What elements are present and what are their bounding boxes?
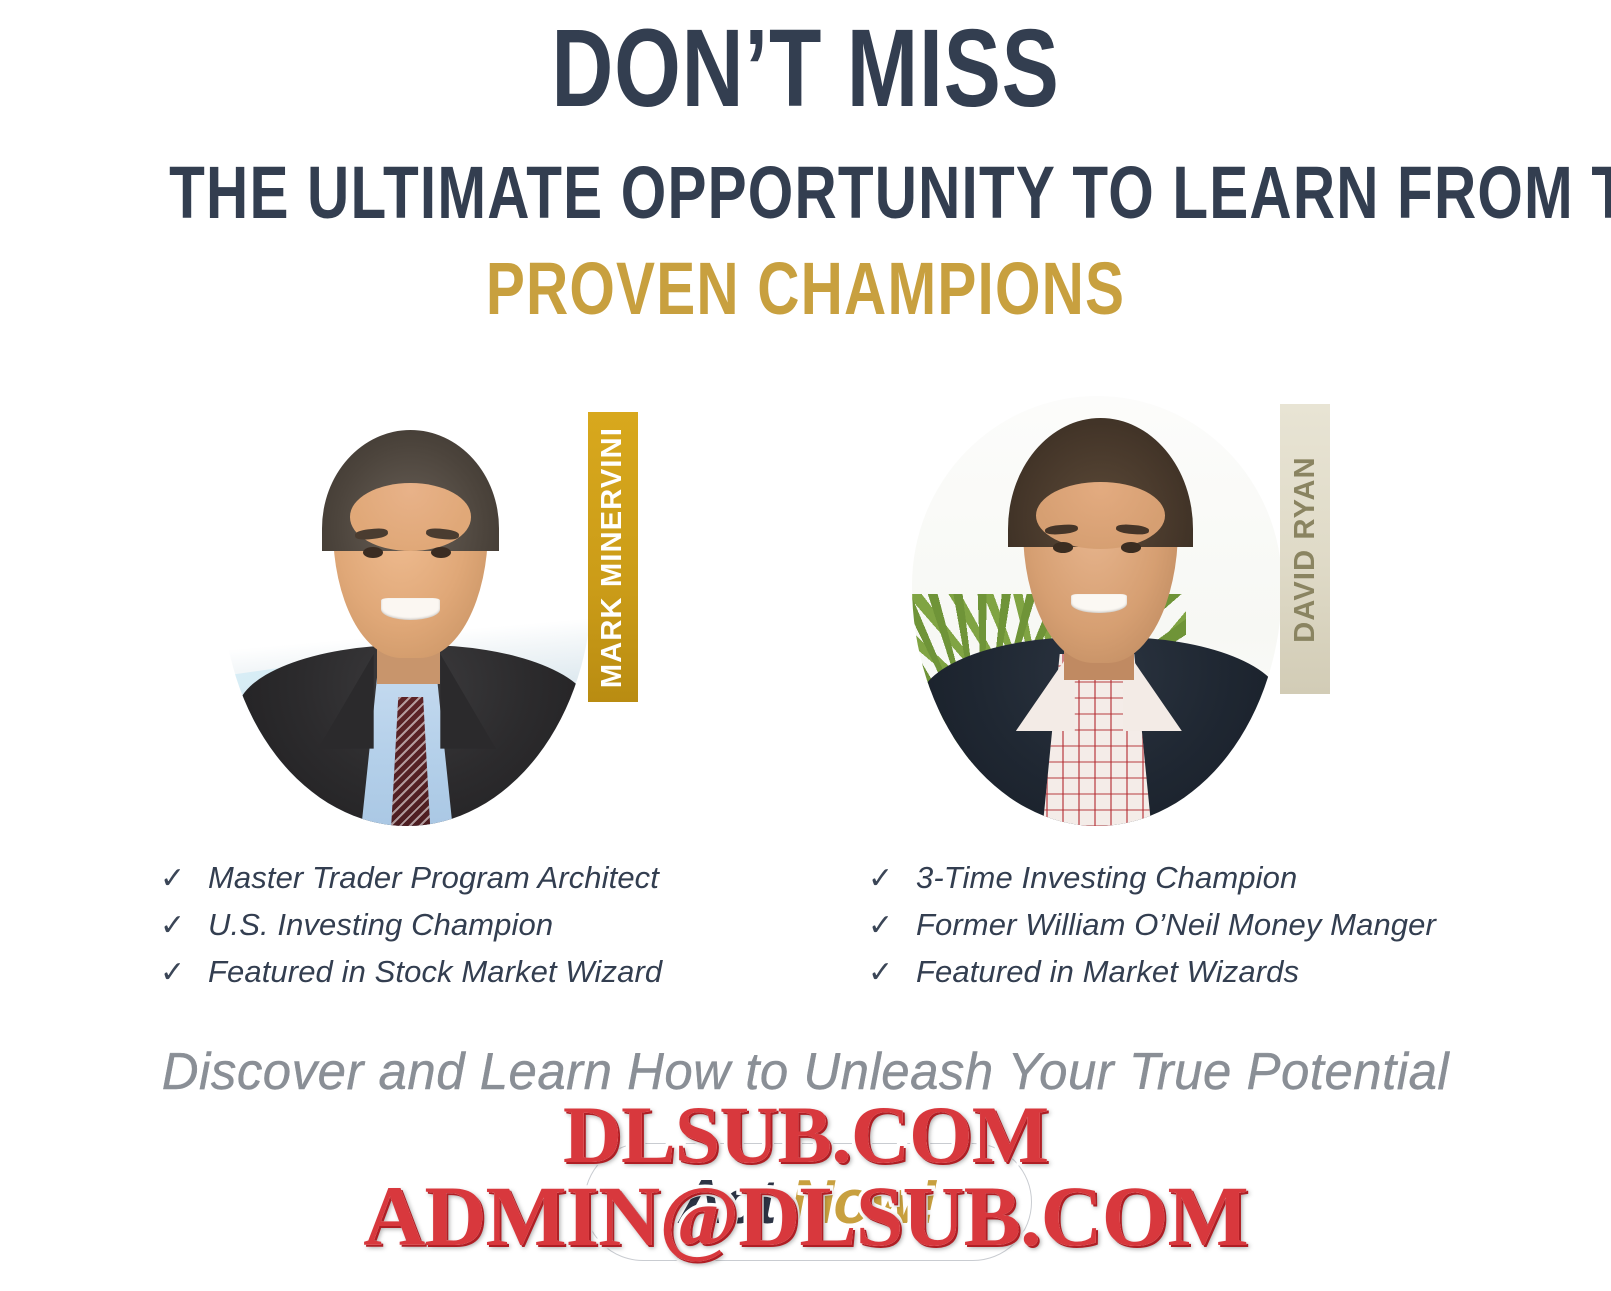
list-item-label: Featured in Stock Market Wizard <box>208 954 662 990</box>
headline-line-2: THE ULTIMATE OPPORTUNITY TO LEARN FROM T… <box>169 156 1442 230</box>
portrait-mark-minervini <box>210 386 600 826</box>
list-item-label: Featured in Market Wizards <box>916 954 1299 990</box>
portrait-eye-left <box>363 547 383 558</box>
check-icon: ✓ <box>160 864 186 894</box>
list-item: ✓ U.S. Investing Champion <box>160 907 662 954</box>
list-item: ✓ Former William O’Neil Money Manger <box>868 907 1436 954</box>
portrait-eye-left <box>1053 542 1073 553</box>
list-item-label: 3-Time Investing Champion <box>916 860 1297 896</box>
name-badge-label: DAVID RYAN <box>1289 456 1322 643</box>
portrait-circle-mask <box>912 396 1282 826</box>
list-item-label: Former William O’Neil Money Manger <box>916 907 1436 943</box>
name-badge-label: MARK MINERVINI <box>597 426 630 687</box>
portraits-row: MARK MINERVINI DAVID RYA <box>0 374 1611 844</box>
check-icon: ✓ <box>868 911 894 941</box>
credentials-list-david-ryan: ✓ 3-Time Investing Champion ✓ Former Wil… <box>868 860 1436 1001</box>
credentials-row: ✓ Master Trader Program Architect ✓ U.S.… <box>0 860 1611 1010</box>
list-item-label: U.S. Investing Champion <box>208 907 553 943</box>
headline-block: DON’T MISS THE ULTIMATE OPPORTUNITY TO L… <box>0 0 1611 326</box>
list-item: ✓ 3-Time Investing Champion <box>868 860 1436 907</box>
portrait-eye-right <box>431 547 451 558</box>
person-card-mark-minervini: MARK MINERVINI <box>200 374 620 844</box>
person-card-david-ryan: DAVID RYAN <box>890 374 1310 844</box>
portrait-smile <box>1071 594 1127 613</box>
check-icon: ✓ <box>160 911 186 941</box>
list-item-label: Master Trader Program Architect <box>208 860 659 896</box>
check-icon: ✓ <box>868 864 894 894</box>
portrait-smile <box>381 598 440 620</box>
credentials-list-mark-minervini: ✓ Master Trader Program Architect ✓ U.S.… <box>160 860 662 1001</box>
watermark-contact-email: ADMIN@DLSUB.COM <box>0 1166 1611 1266</box>
headline-line-1: DON’T MISS <box>177 14 1434 124</box>
list-item: ✓ Featured in Stock Market Wizard <box>160 954 662 1001</box>
list-item: ✓ Master Trader Program Architect <box>160 860 662 907</box>
portrait-circle-mask <box>222 396 592 826</box>
name-badge-david-ryan: DAVID RYAN <box>1280 404 1330 694</box>
check-icon: ✓ <box>868 958 894 988</box>
list-item: ✓ Featured in Market Wizards <box>868 954 1436 1001</box>
check-icon: ✓ <box>160 958 186 988</box>
headline-line-3-proven-champions: PROVEN CHAMPIONS <box>169 252 1442 326</box>
portrait-david-ryan <box>900 386 1290 826</box>
name-badge-mark-minervini: MARK MINERVINI <box>588 412 638 702</box>
